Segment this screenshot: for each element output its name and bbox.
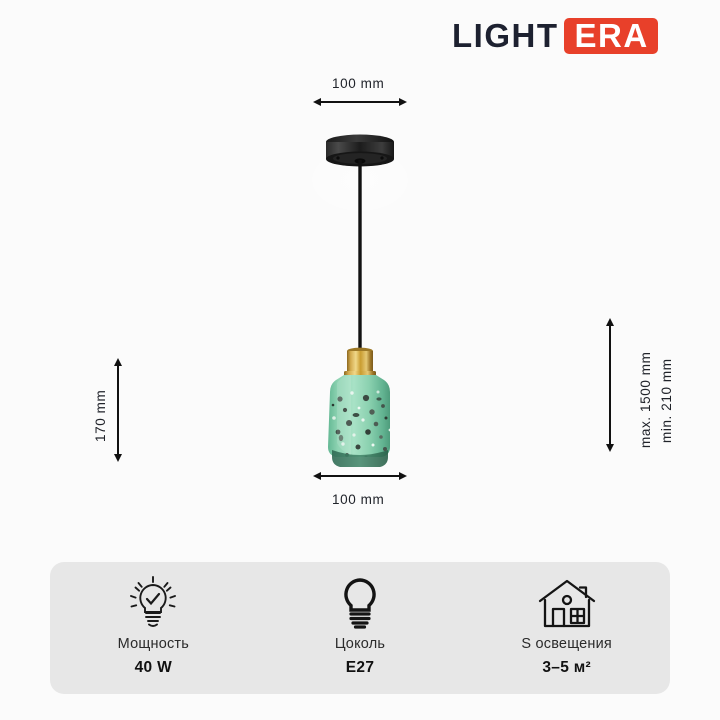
spec-item-area: S освещения 3–5 м² (463, 562, 670, 694)
spec-label-socket: Цоколь (335, 636, 385, 652)
dimension-label-height-min: min. 210 mm (659, 358, 674, 443)
dimension-line-bottom-width (321, 475, 399, 477)
arrow-left-icon (313, 472, 321, 480)
dimension-line-shade-height (117, 366, 119, 454)
spec-value-power: 40 W (135, 659, 172, 677)
bulb-icon (335, 574, 385, 634)
dimension-label-bottom-width: 100 mm (332, 492, 384, 507)
arrow-right-icon (399, 98, 407, 106)
arrow-up-icon (606, 318, 614, 326)
arrow-down-icon (606, 444, 614, 452)
dimension-label-shade-height: 170 mm (93, 390, 108, 442)
house-icon (536, 574, 598, 634)
spec-label-area: S освещения (521, 636, 612, 652)
bulb-check-icon (125, 574, 181, 634)
arrow-down-icon (114, 454, 122, 462)
dimension-label-top-width: 100 mm (332, 76, 384, 91)
dimension-line-top-width (321, 101, 399, 103)
arrow-left-icon (313, 98, 321, 106)
arrow-up-icon (114, 358, 122, 366)
spec-label-power: Мощность (118, 636, 189, 652)
dimension-line-drop-height (609, 326, 611, 444)
spec-item-socket: Цоколь E27 (257, 562, 464, 694)
product-spec-sheet: LIGHT ERA (0, 0, 720, 720)
dimension-label-height-max: max. 1500 mm (638, 352, 653, 448)
arrow-right-icon (399, 472, 407, 480)
specifications-panel: Мощность 40 W Цоколь E27 (50, 562, 670, 694)
spec-item-power: Мощность 40 W (50, 562, 257, 694)
spec-value-area: 3–5 м² (542, 659, 591, 677)
spec-value-socket: E27 (346, 659, 374, 677)
terrazzo-shade (328, 375, 391, 467)
